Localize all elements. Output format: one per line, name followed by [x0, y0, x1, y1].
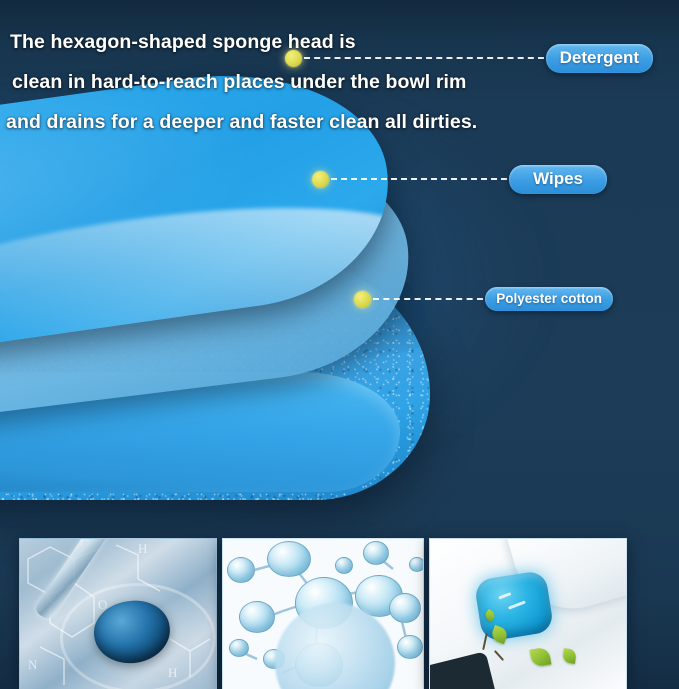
hair-debris [494, 650, 504, 661]
photo-panel-bowl[interactable] [429, 538, 627, 689]
molecule-node [409, 557, 424, 572]
callout-dot-icon [285, 50, 302, 67]
photo-panel-molecule[interactable] [222, 538, 424, 689]
callout-wipes: Wipes [312, 166, 607, 192]
infographic-canvas: The hexagon-shaped sponge head is clean … [0, 0, 679, 689]
callout-dot-icon [354, 291, 371, 308]
svg-text:H: H [138, 541, 147, 556]
molecule-node [267, 541, 311, 577]
callout-polyester: Polyester cotton [354, 286, 613, 312]
headline-text: The hexagon-shaped sponge head is clean … [0, 22, 679, 142]
callout-label-wipes[interactable]: Wipes [509, 165, 607, 194]
svg-text:N: N [28, 657, 38, 672]
blue-gel-block [474, 570, 555, 643]
bowl-shadow-corner [429, 651, 497, 689]
gel-highlight [508, 600, 526, 609]
callout-detergent: Detergent [285, 45, 653, 71]
callout-label-detergent[interactable]: Detergent [546, 44, 653, 73]
molecule-node [229, 639, 249, 657]
molecule-node [363, 541, 389, 565]
hair-debris [482, 633, 487, 650]
molecule-node [227, 557, 255, 583]
molecule-node [389, 593, 421, 623]
callout-leader-line [331, 178, 507, 180]
molecule-node [335, 557, 353, 574]
callout-label-polyester-cotton[interactable]: Polyester cotton [485, 287, 613, 311]
leaf-debris [530, 646, 552, 667]
callout-dot-icon [312, 171, 329, 188]
callout-leader-line [304, 57, 544, 59]
photo-panel-lab[interactable]: ON ON HH [19, 538, 217, 689]
gel-highlight [498, 592, 511, 599]
molecule-node [397, 635, 423, 659]
photo-strip: ON ON HH [0, 520, 679, 689]
leaf-debris [562, 648, 577, 664]
headline-line-3: and drains for a deeper and faster clean… [0, 102, 679, 142]
molecule-node [239, 601, 275, 633]
callout-leader-line [373, 298, 483, 300]
